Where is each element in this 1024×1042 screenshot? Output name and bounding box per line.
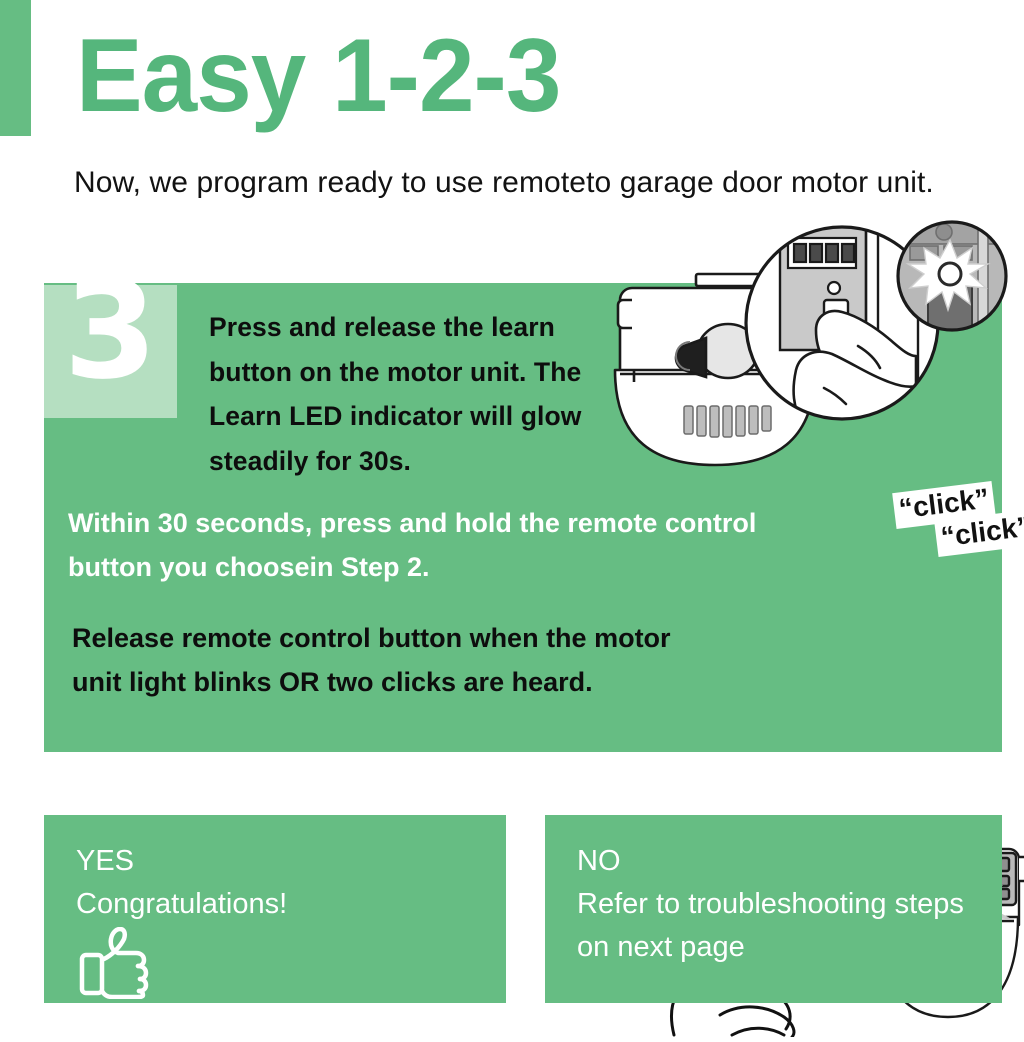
motor-unit-learn-button-illustration: [610, 218, 1010, 473]
step-paragraph-white: Within 30 seconds, press and hold the re…: [68, 501, 768, 589]
outcome-no-label: NO: [577, 840, 977, 883]
header-accent-bar: [0, 0, 31, 136]
outcome-yes-text: YES Congratulations!: [76, 840, 476, 926]
outcome-box-yes: YES Congratulations!: [44, 815, 506, 1003]
poster-page: Easy 1-2-3 Now, we program ready to use …: [0, 0, 1024, 1012]
outcome-yes-label: YES: [76, 840, 476, 883]
outcome-no-detail: Refer to troubleshooting steps on next p…: [577, 883, 977, 969]
step-number-badge: 3: [44, 285, 177, 418]
step-paragraph-black: Release remote control button when the m…: [72, 616, 672, 704]
outcome-no-text: NO Refer to troubleshooting steps on nex…: [577, 840, 977, 969]
intro-text: Now, we program ready to use remoteto ga…: [74, 162, 944, 203]
page-title: Easy 1-2-3: [76, 24, 560, 128]
outcome-box-no: NO Refer to troubleshooting steps on nex…: [545, 815, 1002, 1003]
step-number: 3: [44, 263, 177, 398]
outcome-yes-detail: Congratulations!: [76, 883, 476, 926]
thumbs-up-icon: [78, 927, 156, 1004]
step-instruction-text: Press and release the learn button on th…: [209, 305, 639, 483]
click-sound-group: “click” “click”: [850, 488, 1000, 558]
